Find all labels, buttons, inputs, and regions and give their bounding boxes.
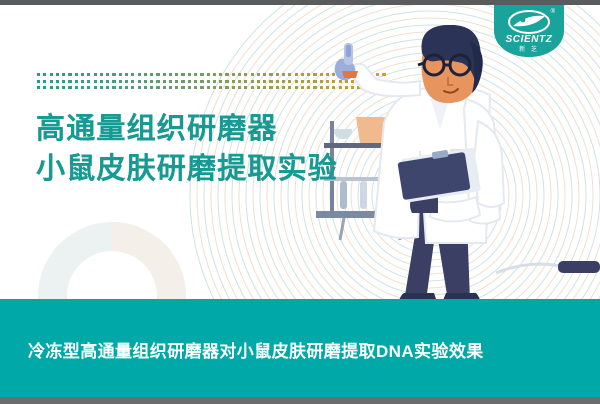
dot-grid-dot	[257, 73, 260, 76]
dot-grid-dot	[138, 86, 141, 89]
dot-grid-dot	[169, 86, 172, 89]
dot-grid-dot	[269, 73, 272, 76]
dot-grid-dot	[37, 86, 40, 89]
poster-canvas: 高通量组织研磨器 小鼠皮肤研磨提取实验	[0, 5, 600, 397]
dot-grid-dot	[213, 86, 216, 89]
dot-grid-dot	[200, 80, 203, 83]
dot-grid-dot	[188, 73, 191, 76]
dot-grid-dot	[138, 80, 141, 83]
dot-grid-row	[37, 86, 272, 89]
dot-grid-dot	[87, 73, 90, 76]
dot-grid-dot	[219, 86, 222, 89]
dot-grid-dot	[163, 86, 166, 89]
dot-grid-dot	[269, 86, 272, 89]
dot-grid-dot	[175, 73, 178, 76]
dot-grid-dot	[188, 86, 191, 89]
dot-grid-dot	[225, 73, 228, 76]
dot-grid-dot	[175, 86, 178, 89]
dot-grid-dot	[181, 86, 184, 89]
dot-grid-dot	[269, 80, 272, 83]
dot-grid-dot	[213, 80, 216, 83]
dot-grid-dot	[56, 80, 59, 83]
scientist-illustration	[300, 25, 600, 310]
dot-grid-dot	[81, 80, 84, 83]
dot-grid-dot	[125, 86, 128, 89]
dot-grid-dot	[94, 86, 97, 89]
dot-grid-dot	[68, 86, 71, 89]
dot-grid-dot	[112, 80, 115, 83]
dot-grid-dot	[50, 80, 53, 83]
dot-grid-dot	[181, 80, 184, 83]
dot-grid-dot	[56, 73, 59, 76]
dot-grid-dot	[163, 73, 166, 76]
window-bottom-bar	[0, 397, 600, 404]
dot-grid-dot	[244, 86, 247, 89]
dot-grid-dot	[257, 86, 260, 89]
dot-grid-dot	[238, 80, 241, 83]
dot-grid-dot	[106, 73, 109, 76]
dot-grid-dot	[144, 86, 147, 89]
dot-grid-dot	[125, 80, 128, 83]
dot-grid-dot	[200, 86, 203, 89]
dot-grid-dot	[106, 86, 109, 89]
dot-grid-dot	[131, 80, 134, 83]
dot-grid-dot	[43, 86, 46, 89]
dot-grid-dot	[62, 73, 65, 76]
dot-grid-dot	[156, 73, 159, 76]
dot-grid-dot	[238, 73, 241, 76]
dot-grid-dot	[37, 73, 40, 76]
dot-grid-dot	[232, 80, 235, 83]
dot-grid-dot	[295, 73, 298, 76]
dot-grid-dot	[207, 80, 210, 83]
dot-grid-dot	[68, 73, 71, 76]
registered-mark: ®	[551, 9, 555, 15]
dot-grid-dot	[238, 86, 241, 89]
dot-grid-dot	[75, 80, 78, 83]
dot-grid-dot	[43, 73, 46, 76]
dot-grid-dot	[188, 80, 191, 83]
dot-grid-gradient	[37, 73, 272, 95]
dot-grid-dot	[276, 86, 279, 89]
dot-grid-dot	[207, 73, 210, 76]
dot-grid-dot	[200, 73, 203, 76]
dot-grid-dot	[169, 73, 172, 76]
dot-grid-dot	[295, 80, 298, 83]
headline-line-1: 高通量组织研磨器	[36, 109, 338, 149]
dot-grid-dot	[138, 73, 141, 76]
dot-grid-dot	[181, 73, 184, 76]
dot-grid-dot	[257, 80, 260, 83]
dot-grid-dot	[225, 86, 228, 89]
dot-grid-dot	[50, 73, 53, 76]
dot-grid-dot	[68, 80, 71, 83]
dot-grid-dot	[232, 86, 235, 89]
dot-grid-dot	[169, 80, 172, 83]
dot-grid-dot	[263, 80, 266, 83]
dot-grid-dot	[194, 86, 197, 89]
dot-grid-dot	[225, 80, 228, 83]
dot-grid-dot	[244, 73, 247, 76]
dot-grid-dot	[87, 86, 90, 89]
dot-grid-dot	[81, 73, 84, 76]
dot-grid-dot	[119, 73, 122, 76]
dot-grid-dot	[56, 86, 59, 89]
dot-grid-dot	[288, 80, 291, 83]
dot-grid-dot	[50, 86, 53, 89]
banner-caption: 冷冻型高通量组织研磨器对小鼠皮肤研磨提取DNA实验效果	[28, 337, 484, 362]
dot-grid-dot	[112, 86, 115, 89]
page-title: 高通量组织研磨器 小鼠皮肤研磨提取实验	[36, 109, 338, 189]
dot-grid-dot	[251, 86, 254, 89]
dot-grid-dot	[194, 73, 197, 76]
dot-grid-dot	[244, 80, 247, 83]
dot-grid-dot	[37, 80, 40, 83]
dot-grid-dot	[106, 80, 109, 83]
dot-grid-dot	[156, 86, 159, 89]
dot-grid-dot	[125, 73, 128, 76]
dot-grid-dot	[276, 73, 279, 76]
scientz-shield-logo: ® SCIENTZ 新 芝	[494, 5, 564, 57]
dot-grid-dot	[175, 80, 178, 83]
dot-grid-dot	[81, 86, 84, 89]
dot-grid-dot	[94, 73, 97, 76]
dot-grid-dot	[251, 73, 254, 76]
dot-grid-dot	[100, 73, 103, 76]
dot-grid-row	[37, 80, 272, 83]
dot-grid-dot	[150, 80, 153, 83]
dot-grid-dot	[75, 86, 78, 89]
window-top-bar	[0, 0, 600, 5]
dot-grid-dot	[207, 86, 210, 89]
dot-grid-dot	[163, 80, 166, 83]
dot-grid-dot	[276, 80, 279, 83]
dot-grid-dot	[213, 73, 216, 76]
dot-grid-dot	[75, 73, 78, 76]
dot-grid-dot	[119, 86, 122, 89]
dot-grid-dot	[150, 86, 153, 89]
dot-grid-dot	[263, 86, 266, 89]
dot-grid-dot	[150, 73, 153, 76]
dot-grid-dot	[87, 80, 90, 83]
dot-grid-dot	[94, 80, 97, 83]
dot-grid-dot	[232, 73, 235, 76]
dot-grid-dot	[251, 80, 254, 83]
dot-grid-dot	[100, 86, 103, 89]
dot-grid-dot	[219, 73, 222, 76]
dot-grid-dot	[282, 73, 285, 76]
dot-grid-row	[37, 73, 272, 76]
dot-grid-dot	[282, 86, 285, 89]
dot-grid-dot	[112, 73, 115, 76]
dot-grid-dot	[263, 73, 266, 76]
logo-swoosh-icon	[507, 10, 551, 35]
dot-grid-dot	[156, 80, 159, 83]
dot-grid-dot	[282, 80, 285, 83]
dot-grid-dot	[144, 73, 147, 76]
bottom-banner: 冷冻型高通量组织研磨器对小鼠皮肤研磨提取DNA实验效果	[0, 299, 600, 397]
dot-grid-dot	[131, 73, 134, 76]
logo-sub-wordmark: 新 芝	[494, 44, 564, 53]
dot-grid-dot	[295, 86, 298, 89]
dot-grid-dot	[288, 73, 291, 76]
dot-grid-dot	[194, 80, 197, 83]
dot-grid-dot	[43, 80, 46, 83]
dot-grid-dot	[62, 80, 65, 83]
dot-grid-dot	[62, 86, 65, 89]
dot-grid-dot	[131, 86, 134, 89]
poster-root: 高通量组织研磨器 小鼠皮肤研磨提取实验	[0, 0, 600, 404]
dot-grid-dot	[144, 80, 147, 83]
dot-grid-dot	[100, 80, 103, 83]
headline-line-2: 小鼠皮肤研磨提取实验	[36, 149, 338, 189]
dot-grid-dot	[288, 86, 291, 89]
dot-grid-dot	[119, 80, 122, 83]
dot-grid-dot	[219, 80, 222, 83]
